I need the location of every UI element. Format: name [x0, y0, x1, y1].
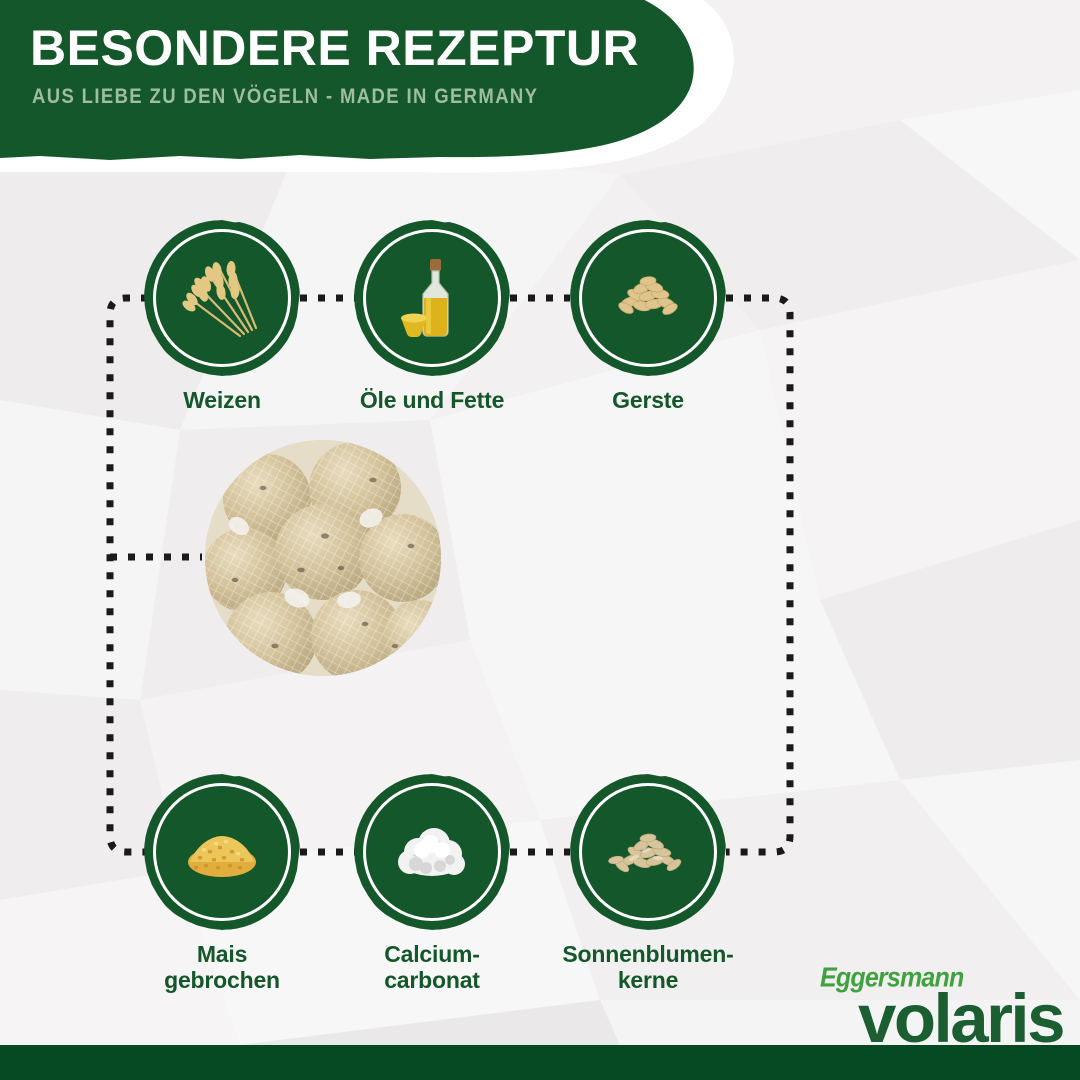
gerste-circle — [570, 220, 726, 376]
ingredient-node-oele-und-fette[interactable]: Öle und Fette — [332, 220, 532, 414]
label-line-1: Mais — [122, 942, 322, 968]
circle-inner-disc — [157, 233, 287, 363]
circle-inner-disc — [367, 787, 497, 917]
label-line-2: carbonat — [332, 968, 532, 994]
footer-bar — [0, 1045, 1080, 1080]
wheat-ears-icon — [170, 246, 274, 350]
label-line-1: Sonnenblumen- — [518, 942, 778, 968]
page-subtitle: AUS LIEBE ZU DEN VÖGELN - MADE IN GERMAN… — [32, 84, 632, 109]
ingredient-label-mais-gebrochen: Mais gebrochen — [122, 942, 322, 994]
ingredient-node-calciumcarbonat[interactable]: Calcium- carbonat — [332, 774, 532, 994]
fat-balls-illustration — [205, 440, 441, 676]
circle-inner-disc — [367, 233, 497, 363]
fat-balls-in-net-photo — [205, 440, 441, 676]
calcium-circle — [354, 774, 510, 930]
ingredient-node-mais-gebrochen[interactable]: Mais gebrochen — [122, 774, 322, 994]
ingredient-label-sonnenblumenkerne: Sonnenblumen- kerne — [518, 942, 778, 994]
weizen-circle — [144, 220, 300, 376]
oele-circle — [354, 220, 510, 376]
circle-inner-disc — [583, 787, 713, 917]
ingredient-node-weizen[interactable]: Weizen — [122, 220, 322, 414]
ingredient-node-sonnenblumenkerne[interactable]: Sonnenblumen- kerne — [518, 774, 778, 994]
ingredient-label-oele-und-fette: Öle und Fette — [332, 388, 532, 414]
circle-inner-disc — [583, 233, 713, 363]
oil-bottle-icon — [380, 246, 484, 350]
label-line-2: gebrochen — [122, 968, 322, 994]
page-title: BESONDERE REZEPTUR — [30, 22, 730, 75]
barley-grains-icon — [596, 246, 700, 350]
brand-logo: Eggersmann volaris — [806, 962, 1080, 1052]
sunflower-seeds-icon — [596, 800, 700, 904]
header-text-block: BESONDERE REZEPTUR AUS LIEBE ZU DEN VÖGE… — [30, 22, 730, 109]
circle-inner-disc — [157, 787, 287, 917]
calcium-powder-icon — [380, 800, 484, 904]
ingredient-label-calciumcarbonat: Calcium- carbonat — [332, 942, 532, 994]
label-line-2: kerne — [518, 968, 778, 994]
ingredient-node-gerste[interactable]: Gerste — [548, 220, 748, 414]
ingredient-label-weizen: Weizen — [122, 388, 322, 414]
sonnenblumenkerne-circle — [570, 774, 726, 930]
label-line-1: Calcium- — [332, 942, 532, 968]
logo-volaris-wordmark: volaris — [858, 984, 1063, 1053]
mais-circle — [144, 774, 300, 930]
cracked-corn-icon — [170, 800, 274, 904]
infographic-canvas: BESONDERE REZEPTUR AUS LIEBE ZU DEN VÖGE… — [0, 0, 1080, 1080]
ingredient-label-gerste: Gerste — [548, 388, 748, 414]
